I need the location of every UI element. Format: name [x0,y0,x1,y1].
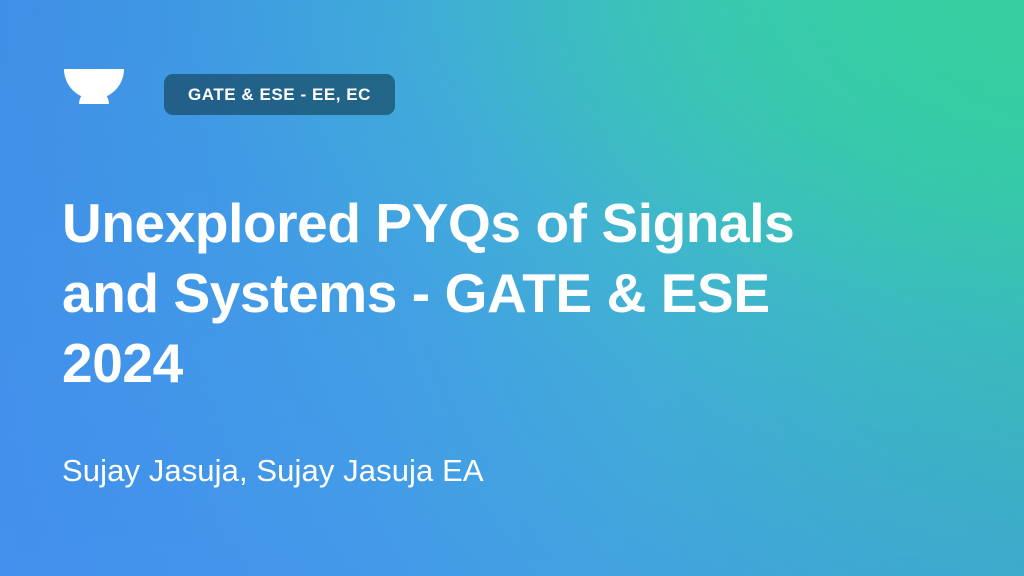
unacademy-chalice-logo-icon [62,66,126,122]
category-badge[interactable]: GATE & ESE - EE, EC [164,74,395,115]
cover-header-row: GATE & ESE - EE, EC [62,66,395,122]
course-title: Unexplored PYQs of Signals and Systems -… [62,188,862,398]
course-cover-card: GATE & ESE - EE, EC Unexplored PYQs of S… [0,0,1024,576]
category-badge-label: GATE & ESE - EE, EC [188,86,371,103]
educator-names: Sujay Jasuja, Sujay Jasuja EA [62,450,942,492]
cover-content: GATE & ESE - EE, EC Unexplored PYQs of S… [0,0,1024,576]
